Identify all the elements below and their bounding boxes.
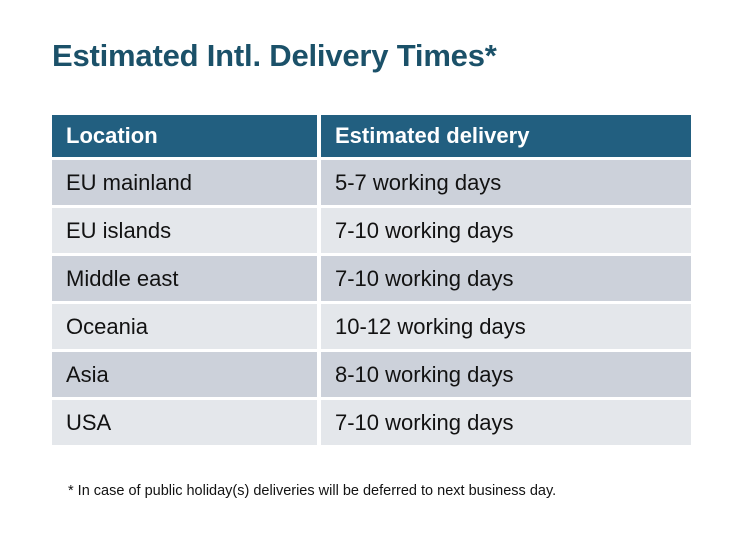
table-row: EU islands 7-10 working days <box>52 208 691 253</box>
table-row: Oceania 10-12 working days <box>52 304 691 349</box>
cell-delivery: 5-7 working days <box>321 160 691 205</box>
table-row: Middle east 7-10 working days <box>52 256 691 301</box>
delivery-times-page: Estimated Intl. Delivery Times* Location… <box>0 0 745 536</box>
column-header-estimated-delivery: Estimated delivery <box>321 115 691 157</box>
delivery-times-table: Location Estimated delivery EU mainland … <box>52 115 691 445</box>
table-row: USA 7-10 working days <box>52 400 691 445</box>
cell-location: Middle east <box>52 256 317 301</box>
cell-location: USA <box>52 400 317 445</box>
cell-location: Asia <box>52 352 317 397</box>
cell-location: EU islands <box>52 208 317 253</box>
table-row: EU mainland 5-7 working days <box>52 160 691 205</box>
cell-delivery: 7-10 working days <box>321 256 691 301</box>
cell-delivery: 7-10 working days <box>321 400 691 445</box>
table-row: Asia 8-10 working days <box>52 352 691 397</box>
table-header-row: Location Estimated delivery <box>52 115 691 157</box>
cell-delivery: 7-10 working days <box>321 208 691 253</box>
cell-delivery: 10-12 working days <box>321 304 691 349</box>
column-header-location: Location <box>52 115 317 157</box>
footnote-text: * In case of public holiday(s) deliverie… <box>68 483 556 499</box>
cell-delivery: 8-10 working days <box>321 352 691 397</box>
cell-location: Oceania <box>52 304 317 349</box>
page-title: Estimated Intl. Delivery Times* <box>52 38 497 74</box>
cell-location: EU mainland <box>52 160 317 205</box>
